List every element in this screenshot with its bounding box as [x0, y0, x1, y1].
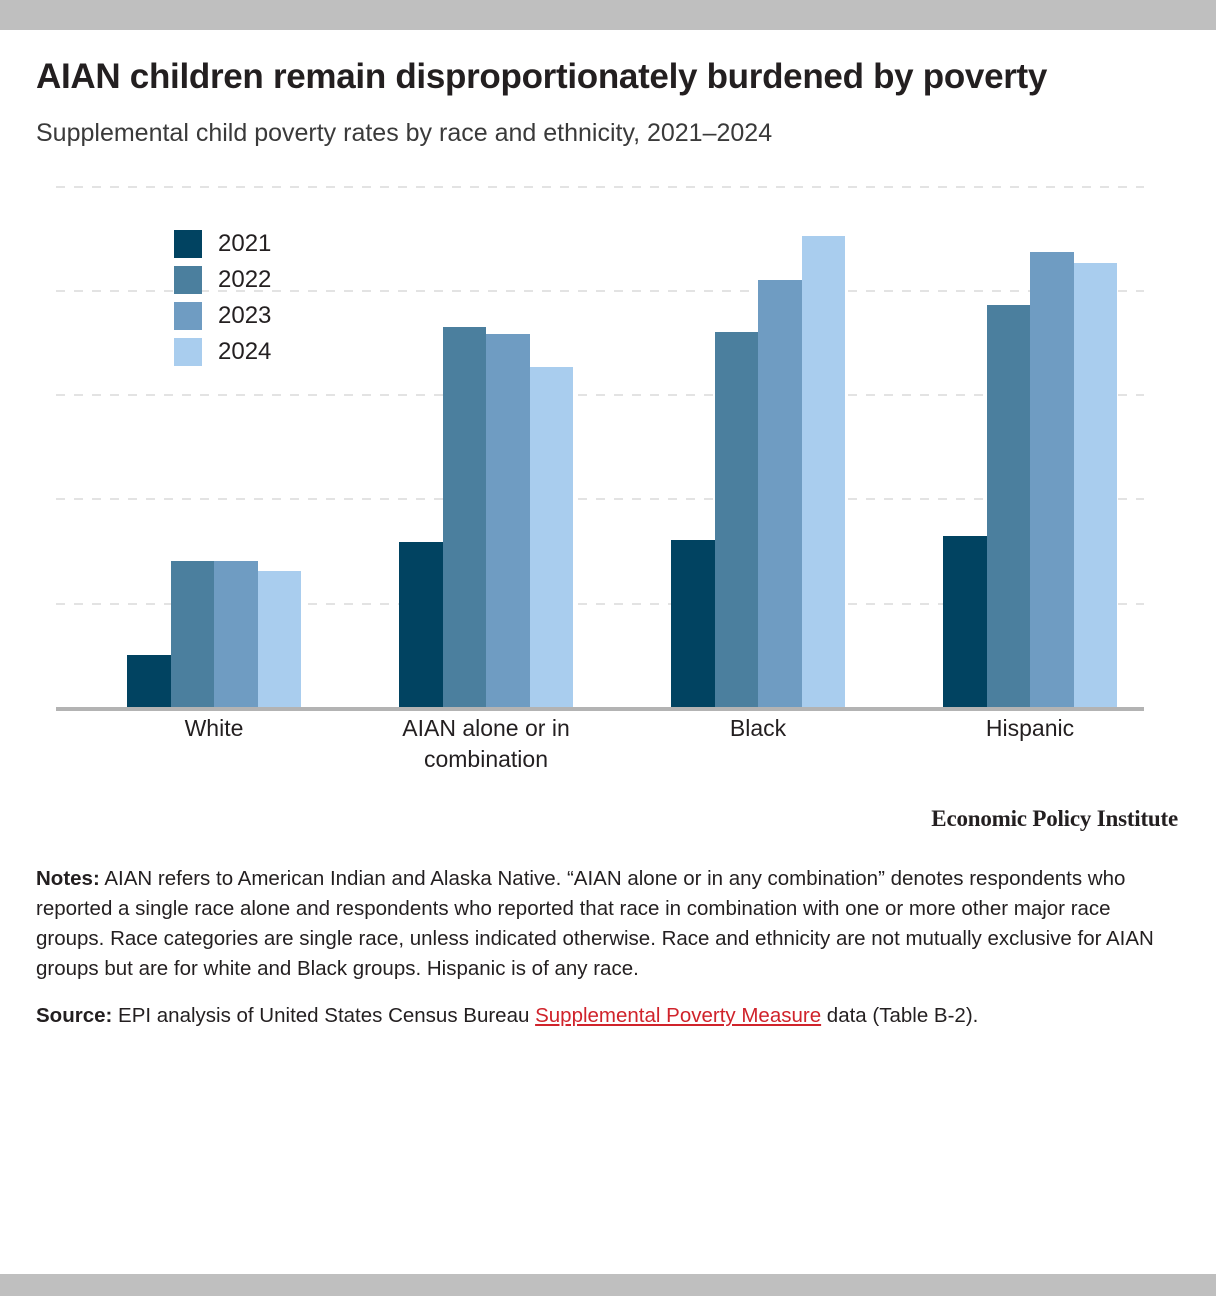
x-axis-label-1: AIAN alone or in combination	[350, 713, 622, 775]
legend-swatch-icon	[174, 266, 202, 294]
chart-content: AIAN children remain disproportionately …	[0, 30, 1216, 1274]
x-axis-category-labels: WhiteAIAN alone or in combinationBlackHi…	[56, 713, 1144, 793]
bar	[258, 571, 302, 709]
epi-brand-logo: Economic Policy Institute	[36, 806, 1180, 832]
chart-legend: 2021202220232024	[174, 226, 271, 370]
bottom-gray-band	[0, 1274, 1216, 1296]
bar	[1030, 252, 1074, 708]
bar	[758, 280, 802, 709]
legend-swatch-icon	[174, 302, 202, 330]
top-gray-band	[0, 0, 1216, 30]
legend-item-2024[interactable]: 2024	[174, 334, 271, 370]
legend-label: 2023	[218, 304, 271, 328]
bar	[171, 561, 215, 709]
legend-label: 2024	[218, 340, 271, 364]
legend-swatch-icon	[174, 230, 202, 258]
x-axis-line	[56, 707, 1144, 711]
legend-item-2023[interactable]: 2023	[174, 298, 271, 334]
legend-label: 2021	[218, 232, 271, 256]
bar	[486, 334, 530, 709]
footer-notes: Notes: AIAN refers to American Indian an…	[36, 864, 1180, 1032]
chart-plot-wrapper: 2021202220232024 WhiteAIAN alone or in c…	[36, 188, 1144, 788]
notes-label: Notes:	[36, 867, 100, 890]
x-axis-label-2: Black	[622, 713, 894, 744]
supplemental-poverty-measure-link[interactable]: Supplemental Poverty Measure	[535, 1004, 821, 1027]
bar	[987, 305, 1031, 709]
source-text-post: data (Table B-2).	[821, 1004, 978, 1027]
notes-text: AIAN refers to American Indian and Alask…	[36, 867, 1154, 980]
page-title: AIAN children remain disproportionately …	[36, 30, 1146, 97]
chart-page: AIAN children remain disproportionately …	[0, 0, 1216, 1296]
bar	[715, 332, 759, 709]
bar	[1074, 263, 1118, 709]
legend-item-2022[interactable]: 2022	[174, 262, 271, 298]
bar	[127, 655, 171, 709]
legend-swatch-icon	[174, 338, 202, 366]
source-text-pre: EPI analysis of United States Census Bur…	[112, 1004, 535, 1027]
notes-paragraph: Notes: AIAN refers to American Indian an…	[36, 864, 1180, 985]
page-subtitle: Supplemental child poverty rates by race…	[36, 97, 1180, 150]
bar	[943, 536, 987, 709]
legend-label: 2022	[218, 268, 271, 292]
bar	[671, 540, 715, 709]
bar	[530, 367, 574, 709]
bar	[802, 236, 846, 709]
bar	[399, 542, 443, 709]
legend-item-2021[interactable]: 2021	[174, 226, 271, 262]
x-axis-label-3: Hispanic	[894, 713, 1166, 744]
x-axis-label-0: White	[78, 713, 350, 744]
bar	[443, 327, 487, 708]
source-label: Source:	[36, 1004, 112, 1027]
bar	[214, 561, 258, 709]
source-paragraph: Source: EPI analysis of United States Ce…	[36, 1001, 1180, 1031]
